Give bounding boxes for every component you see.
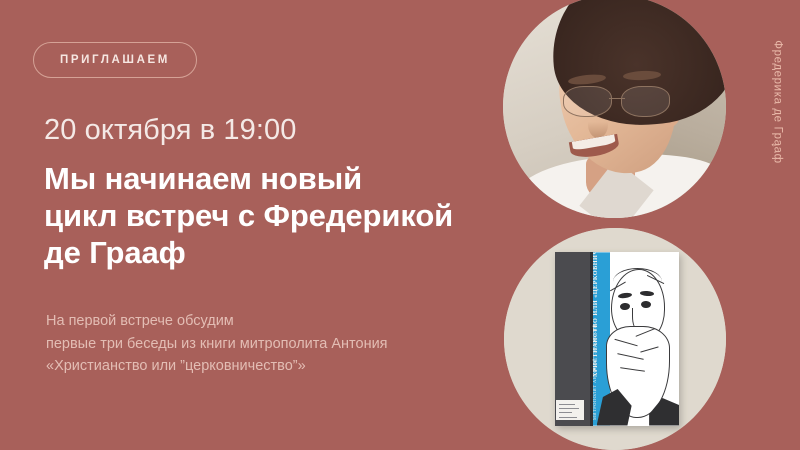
glasses-bridge — [609, 98, 625, 99]
portrait-illustration — [503, 0, 726, 218]
description-line-1: На первой встрече обсудим — [46, 310, 388, 333]
book-spine-author: МИТРОПОЛИТ АНТОНИЙ СУРОЖСКИЙ — [592, 325, 598, 421]
engraving-hairline — [613, 268, 662, 296]
invitation-badge-label: ПРИГЛАШАЕМ — [60, 54, 170, 66]
book-cover-photo: ХРИСТИАНСТВО ИЛИ «ЦЕРКОВНИЧЕСТВО» МИТРОП… — [504, 228, 726, 450]
arrow-left-icon: ← — [769, 136, 782, 149]
headline-line-3: де Грааф — [44, 234, 514, 271]
page-title: Мы начинаем новый цикл встреч с Фредерик… — [44, 160, 514, 271]
book-spine — [555, 252, 590, 425]
glasses-lens-right — [621, 86, 670, 117]
book-cover-engraved-portrait — [600, 259, 680, 425]
description-line-3: «Христианство или ”церковничество”» — [46, 355, 388, 378]
speaker-portrait-photo — [503, 0, 726, 218]
book-spine-label — [556, 400, 583, 421]
speaker-vertical-caption: Фредерика де Грааф ← — [766, 34, 790, 194]
headline-line-2: цикл встреч с Фредерикой — [44, 197, 514, 234]
event-description: На первой встрече обсудим первые три бес… — [46, 310, 388, 378]
glasses-icon — [563, 86, 670, 115]
book-object: ХРИСТИАНСТВО ИЛИ «ЦЕРКОВНИЧЕСТВО» МИТРОП… — [555, 252, 679, 425]
invitation-badge[interactable]: ПРИГЛАШАЕМ — [33, 42, 197, 78]
book-illustration: ХРИСТИАНСТВО ИЛИ «ЦЕРКОВНИЧЕСТВО» МИТРОП… — [504, 228, 726, 450]
event-date-time: 20 октября в 19:00 — [44, 114, 296, 147]
portrait-nose — [588, 111, 608, 138]
description-line-2: первые три беседы из книги митрополита А… — [46, 333, 388, 356]
event-poster: ПРИГЛАШАЕМ 20 октября в 19:00 Мы начинае… — [0, 0, 800, 450]
headline-line-1: Мы начинаем новый — [44, 160, 514, 197]
